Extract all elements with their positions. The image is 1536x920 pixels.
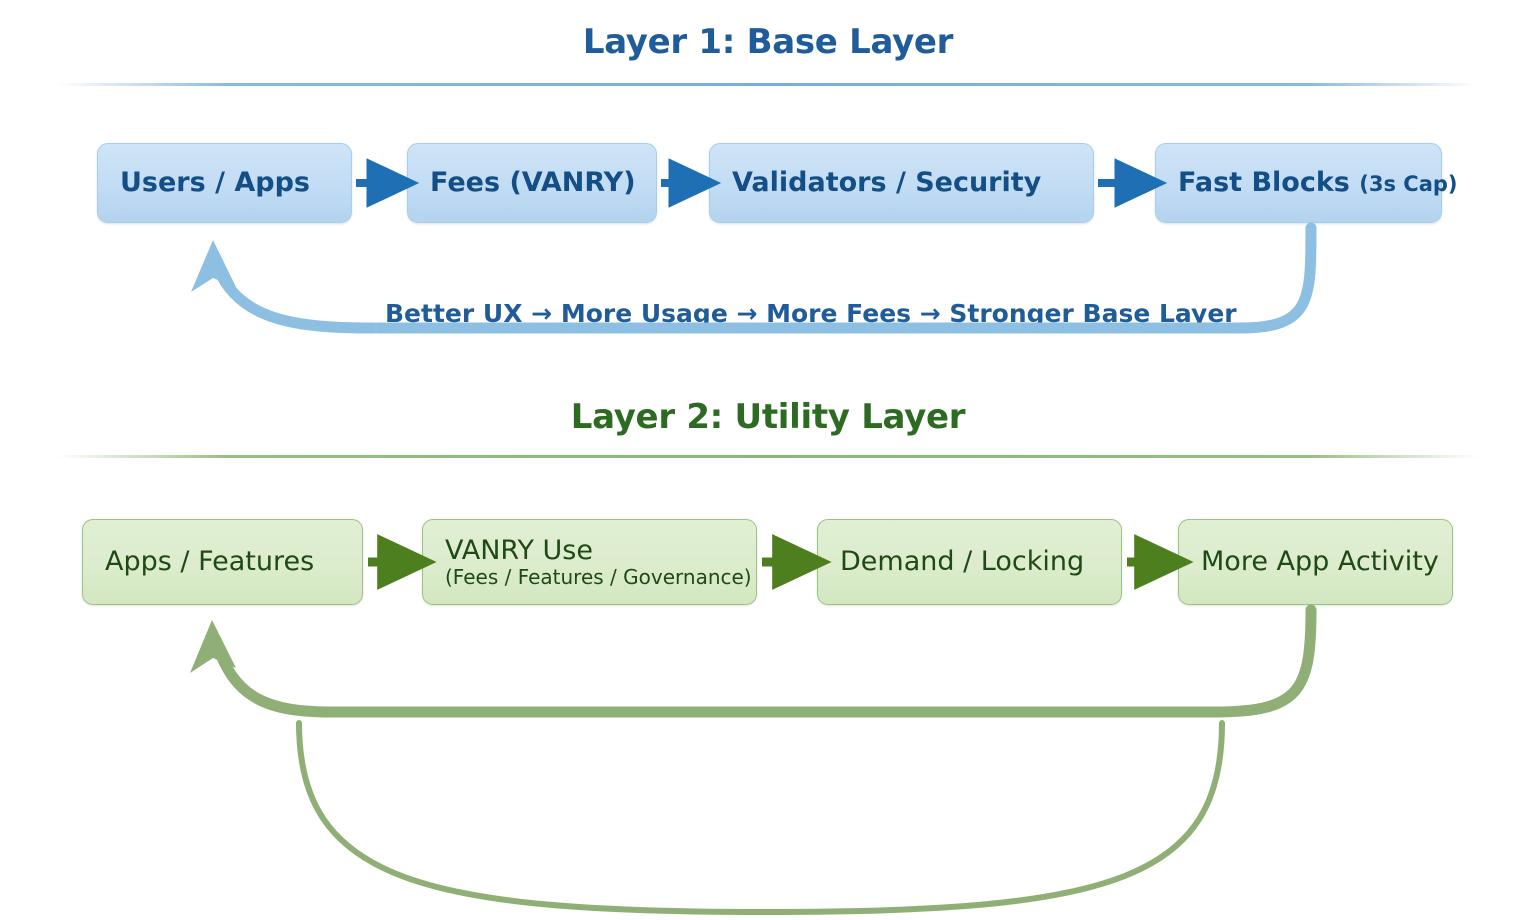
node-more-app-activity[interactable]: More App Activity: [1178, 519, 1453, 605]
loop-line-left-blue: [218, 268, 374, 328]
node-label: Users / Apps: [120, 168, 337, 197]
node-demand-locking[interactable]: Demand / Locking: [817, 519, 1122, 605]
node-label-sub: (3s Cap): [1359, 172, 1457, 196]
node-apps-features[interactable]: Apps / Features: [82, 519, 363, 605]
node-sublabel: (Fees / Features / Governance): [445, 567, 742, 589]
node-label: VANRY Use: [445, 536, 742, 565]
loop-line-right-green: [330, 610, 1311, 712]
node-label: Validators / Security: [732, 168, 1079, 197]
loop-arc-outer-green: [299, 723, 1222, 912]
node-label-main: Fast Blocks: [1178, 167, 1359, 198]
node-label: Demand / Locking: [840, 547, 1107, 576]
layer1-divider: [57, 83, 1479, 86]
layer1-title: Layer 1: Base Layer: [0, 22, 1536, 62]
diagram-canvas: Layer 1: Base Layer Users / Apps Fees (V…: [0, 0, 1536, 920]
node-label: Fees (VANRY): [430, 168, 642, 197]
layer2-divider: [57, 455, 1479, 458]
connector-overlay: [0, 0, 1536, 920]
layer2-title: Layer 2: Utility Layer: [0, 397, 1536, 437]
node-label: Apps / Features: [105, 547, 348, 576]
node-label: More App Activity: [1201, 547, 1438, 576]
layer2-feedback-loop: [190, 610, 1311, 912]
loop-arrowhead-green: [190, 620, 236, 673]
node-fast-blocks[interactable]: Fast Blocks (3s Cap): [1155, 143, 1442, 223]
node-vanry-use[interactable]: VANRY Use (Fees / Features / Governance): [422, 519, 757, 605]
node-label: Fast Blocks (3s Cap): [1178, 168, 1427, 197]
layer1-loop-caption: Better UX → More Usage → More Fees → Str…: [385, 299, 1237, 328]
node-fees-vanry[interactable]: Fees (VANRY): [407, 143, 657, 223]
node-validators-security[interactable]: Validators / Security: [709, 143, 1094, 223]
loop-line-left-green: [216, 640, 332, 712]
node-users-apps[interactable]: Users / Apps: [97, 143, 352, 223]
loop-arrowhead-blue: [191, 240, 236, 292]
